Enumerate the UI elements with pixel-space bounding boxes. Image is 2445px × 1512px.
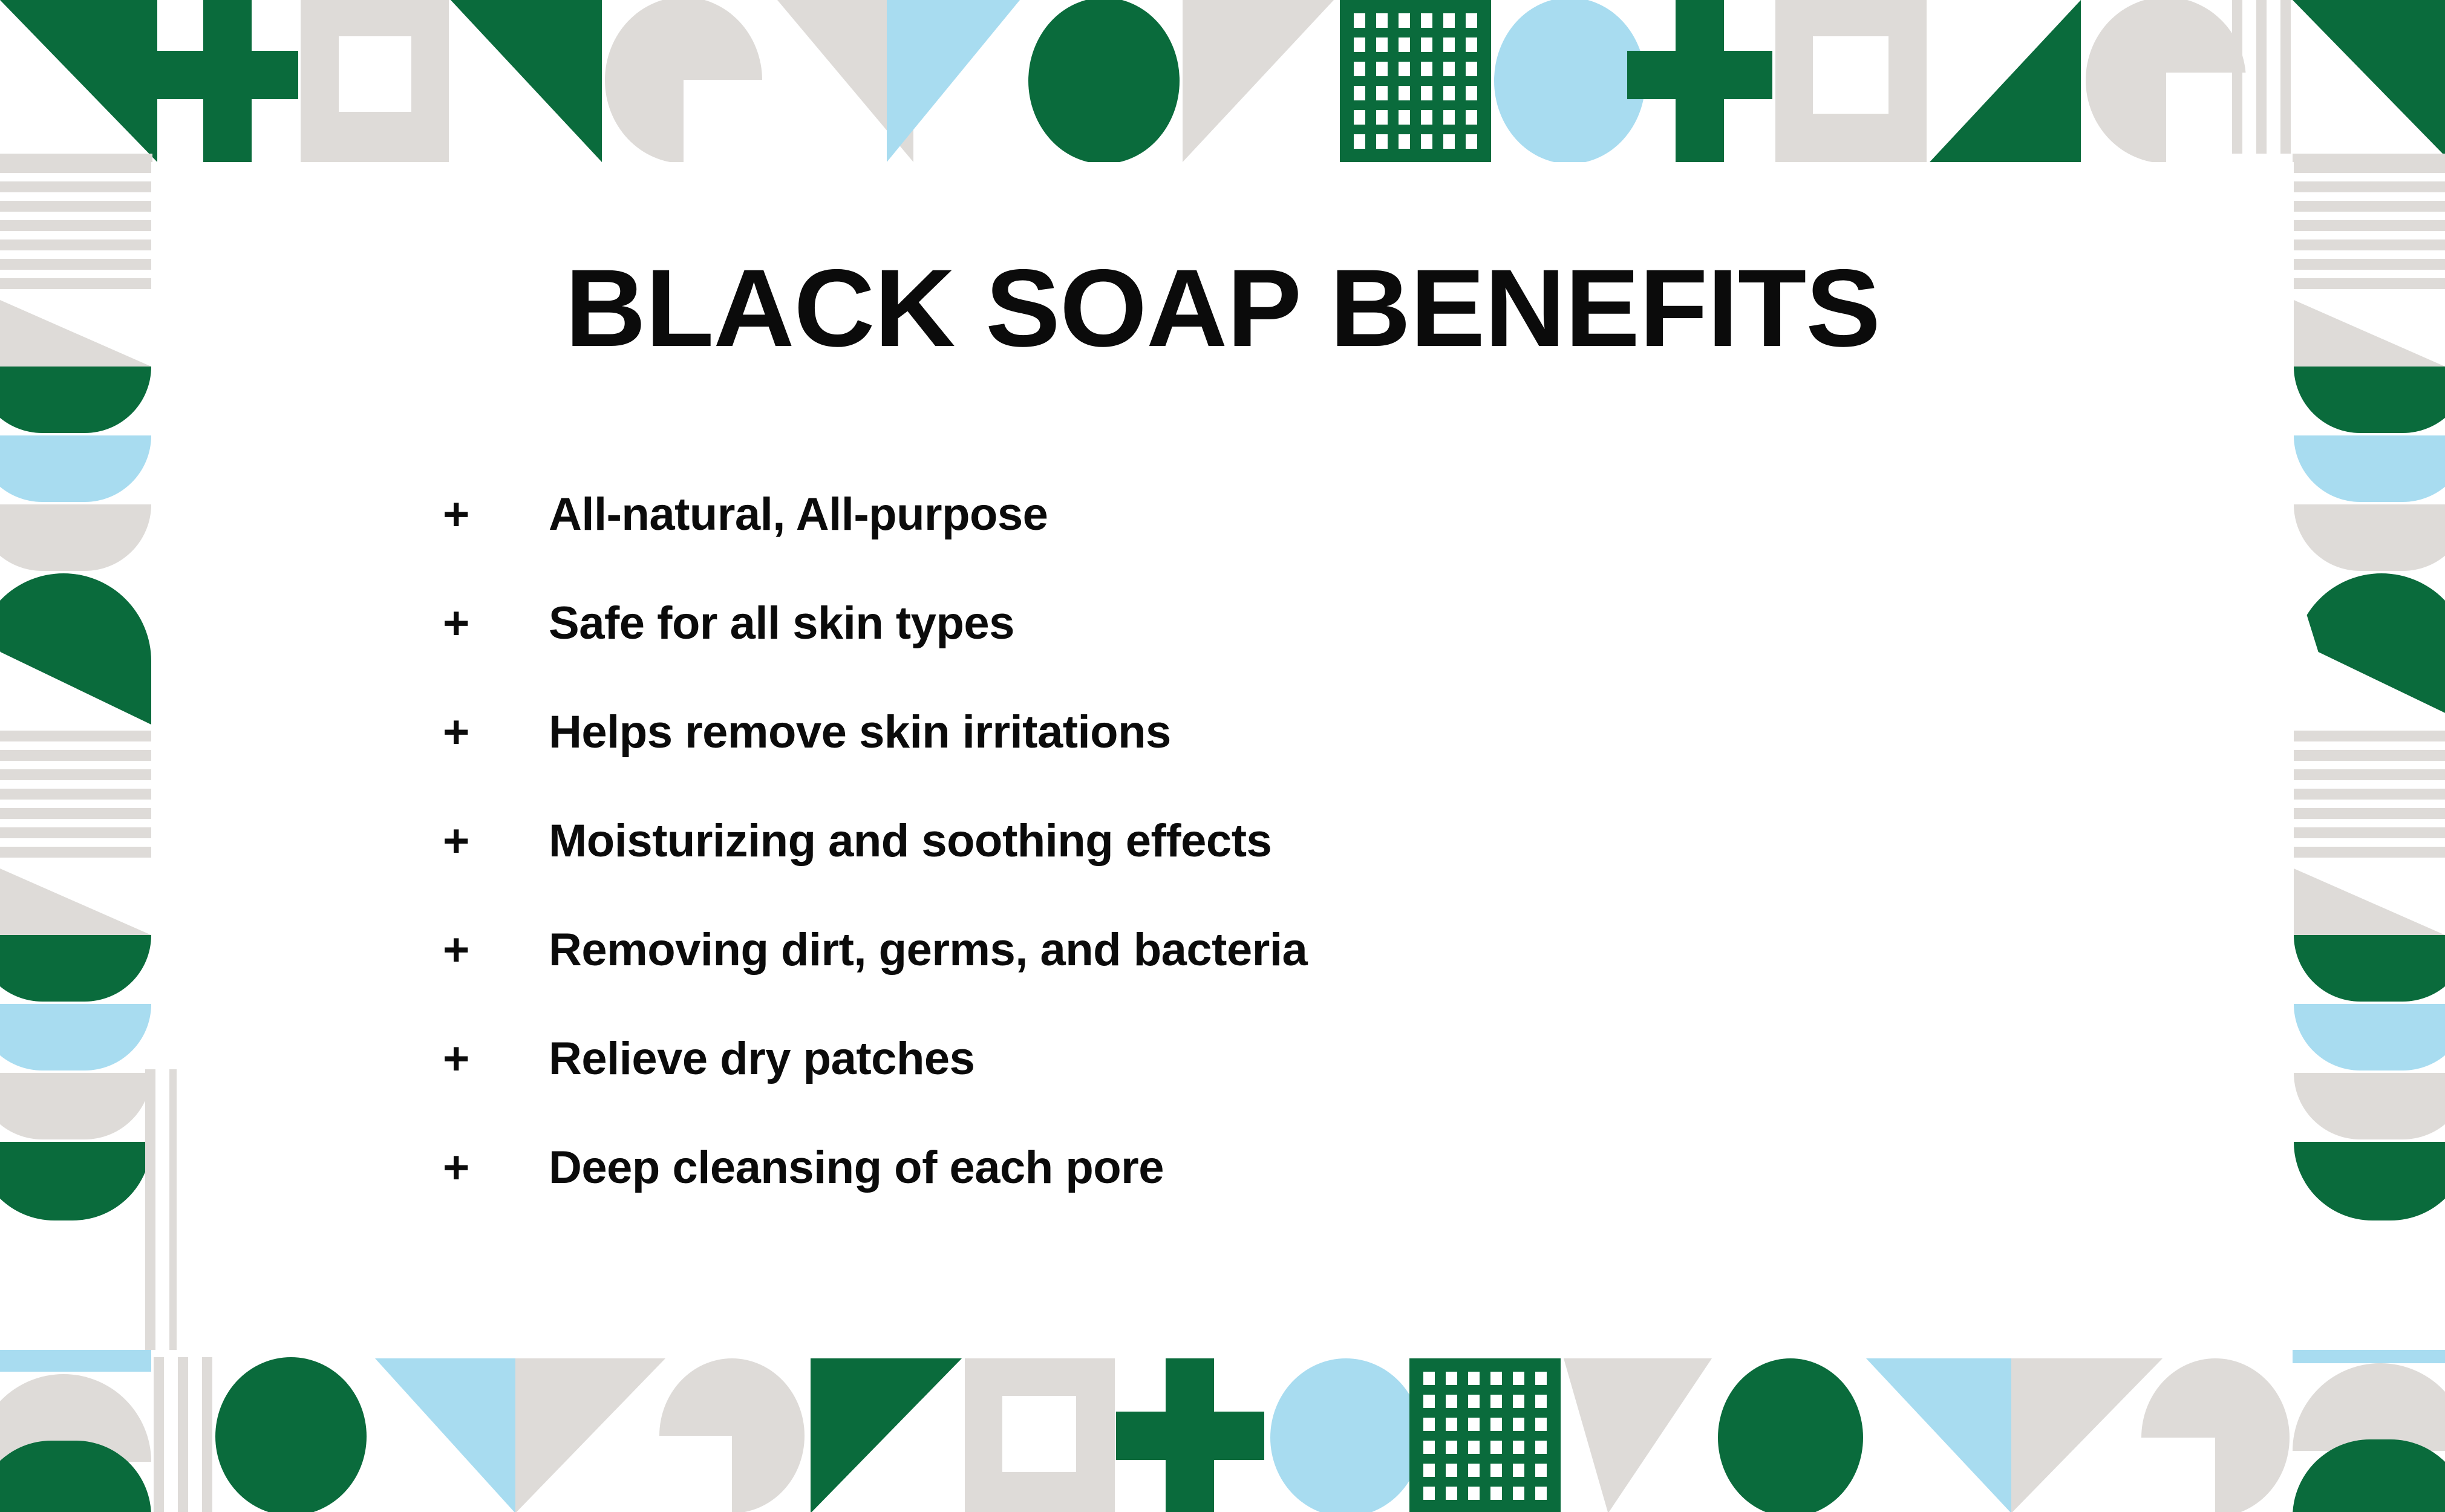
benefit-label: Helps remove skin irritations [549, 709, 1171, 755]
light-blue-circle-icon [1494, 0, 1645, 162]
right-border-band [2268, 162, 2445, 1350]
gray-horizontal-stripes-icon [0, 808, 151, 868]
gray-triangle-icon [2011, 1358, 2163, 1512]
light-blue-half-circle-icon [2294, 1004, 2445, 1070]
light-blue-bar-icon [2293, 1350, 2445, 1363]
gray-half-circle-icon [0, 1374, 151, 1462]
green-triangle-icon [2293, 0, 2445, 156]
light-blue-triangle-icon [375, 1358, 515, 1512]
green-triangle-icon [1930, 0, 2081, 162]
bottom-border-band [0, 1350, 2445, 1512]
gray-vertical-stripes-icon [145, 1069, 177, 1350]
green-triangle-icon [451, 0, 602, 162]
green-half-circle-icon [0, 1441, 151, 1512]
gray-triangle-icon [0, 868, 151, 935]
gray-vertical-stripes-icon [2232, 0, 2300, 154]
green-half-circle-icon [0, 1142, 151, 1220]
gray-horizontal-stripes-icon [2294, 731, 2445, 803]
plus-marker-icon: + [443, 1145, 549, 1191]
gray-horizontal-stripes-icon [2294, 240, 2445, 300]
green-plus-icon [1116, 1358, 1264, 1512]
gray-pacman-icon [2086, 0, 2246, 162]
green-half-circle-icon [2294, 935, 2445, 1002]
benefits-list: + All-natural, All-purpose + Safe for al… [443, 492, 2076, 1254]
gray-half-circle-icon [2294, 1073, 2445, 1139]
gray-triangle-icon [777, 0, 913, 162]
green-grid-block-icon [1409, 1358, 1561, 1512]
green-quarter-fan-icon [2294, 573, 2445, 725]
light-blue-bar-icon [0, 1350, 151, 1372]
gray-square-ring-icon [301, 0, 449, 162]
benefit-label: Deep cleansing of each pore [549, 1145, 1164, 1191]
light-blue-half-circle-icon [0, 435, 151, 502]
gray-triangle-icon [2294, 300, 2445, 367]
light-blue-triangle-icon [887, 0, 1020, 162]
gray-triangle-icon [1183, 0, 1334, 162]
light-blue-half-circle-icon [2294, 435, 2445, 502]
left-border-band [0, 162, 177, 1350]
plus-marker-icon: + [443, 492, 549, 538]
green-grid-block-icon [1340, 0, 1491, 162]
gray-bar-icon [0, 154, 152, 162]
plus-marker-icon: + [443, 927, 549, 973]
top-border-band [0, 0, 2445, 162]
light-blue-half-circle-icon [0, 1004, 151, 1070]
gray-square-ring-icon [1775, 0, 1927, 162]
green-half-circle-icon [2294, 1142, 2445, 1220]
benefit-label: Relieve dry patches [549, 1036, 974, 1082]
green-circle-icon [1028, 0, 1180, 162]
green-half-circle-icon [0, 935, 151, 1002]
gray-pacman-icon [2141, 1358, 2290, 1512]
gray-vertical-stripes-icon [154, 1357, 221, 1512]
gray-half-circle-icon [2294, 504, 2445, 571]
green-circle-icon [1718, 1358, 1863, 1512]
gray-half-circle-icon [0, 1073, 151, 1139]
gray-triangle-icon [515, 1358, 665, 1512]
gray-triangle-icon [0, 300, 151, 367]
gray-horizontal-stripes-icon [0, 731, 151, 803]
list-item: + Deep cleansing of each pore [443, 1145, 2076, 1254]
green-circle-icon [215, 1357, 367, 1512]
page-title: BLACK SOAP BENEFITS [155, 253, 2289, 363]
green-triangle-icon [811, 1358, 962, 1512]
list-item: + Relieve dry patches [443, 1036, 2076, 1145]
poster-canvas: BLACK SOAP BENEFITS + All-natural, All-p… [0, 0, 2445, 1512]
gray-half-circle-icon [0, 504, 151, 571]
gray-pacman-icon [659, 1358, 805, 1512]
list-item: + Helps remove skin irritations [443, 709, 2076, 818]
green-half-circle-icon [0, 367, 151, 433]
plus-marker-icon: + [443, 601, 549, 647]
content-panel: BLACK SOAP BENEFITS + All-natural, All-p… [177, 162, 2268, 1350]
list-item: + Safe for all skin types [443, 601, 2076, 709]
light-blue-circle-icon [1270, 1358, 1422, 1512]
gray-half-circle-icon [2293, 1363, 2445, 1451]
benefit-label: Removing dirt, germs, and bacteria [549, 927, 1307, 973]
green-half-circle-icon [2294, 367, 2445, 433]
plus-marker-icon: + [443, 709, 549, 755]
gray-pacman-icon [605, 0, 762, 162]
gray-horizontal-stripes-icon [2294, 162, 2445, 235]
green-triangle-icon [0, 0, 157, 162]
gray-bar-icon [2293, 154, 2445, 162]
list-item: + All-natural, All-purpose [443, 492, 2076, 601]
benefit-label: Moisturizing and soothing effects [549, 818, 1271, 864]
plus-marker-icon: + [443, 818, 549, 864]
green-half-circle-icon [2293, 1439, 2445, 1512]
gray-square-ring-icon [965, 1358, 1115, 1512]
list-item: + Moisturizing and soothing effects [443, 818, 2076, 927]
list-item: + Removing dirt, germs, and bacteria [443, 927, 2076, 1036]
gray-horizontal-stripes-icon [0, 162, 151, 235]
gray-triangle-icon [2294, 868, 2445, 935]
plus-marker-icon: + [443, 1036, 549, 1082]
benefit-label: Safe for all skin types [549, 601, 1014, 647]
benefit-label: All-natural, All-purpose [549, 492, 1048, 538]
green-plus-icon [1627, 0, 1772, 162]
light-blue-triangle-icon [1866, 1358, 2011, 1512]
gray-horizontal-stripes-icon [0, 240, 151, 300]
gray-triangle-icon [1564, 1358, 1712, 1512]
gray-horizontal-stripes-icon [2294, 808, 2445, 868]
green-quarter-fan-icon [0, 573, 151, 725]
green-plus-icon [156, 0, 298, 162]
